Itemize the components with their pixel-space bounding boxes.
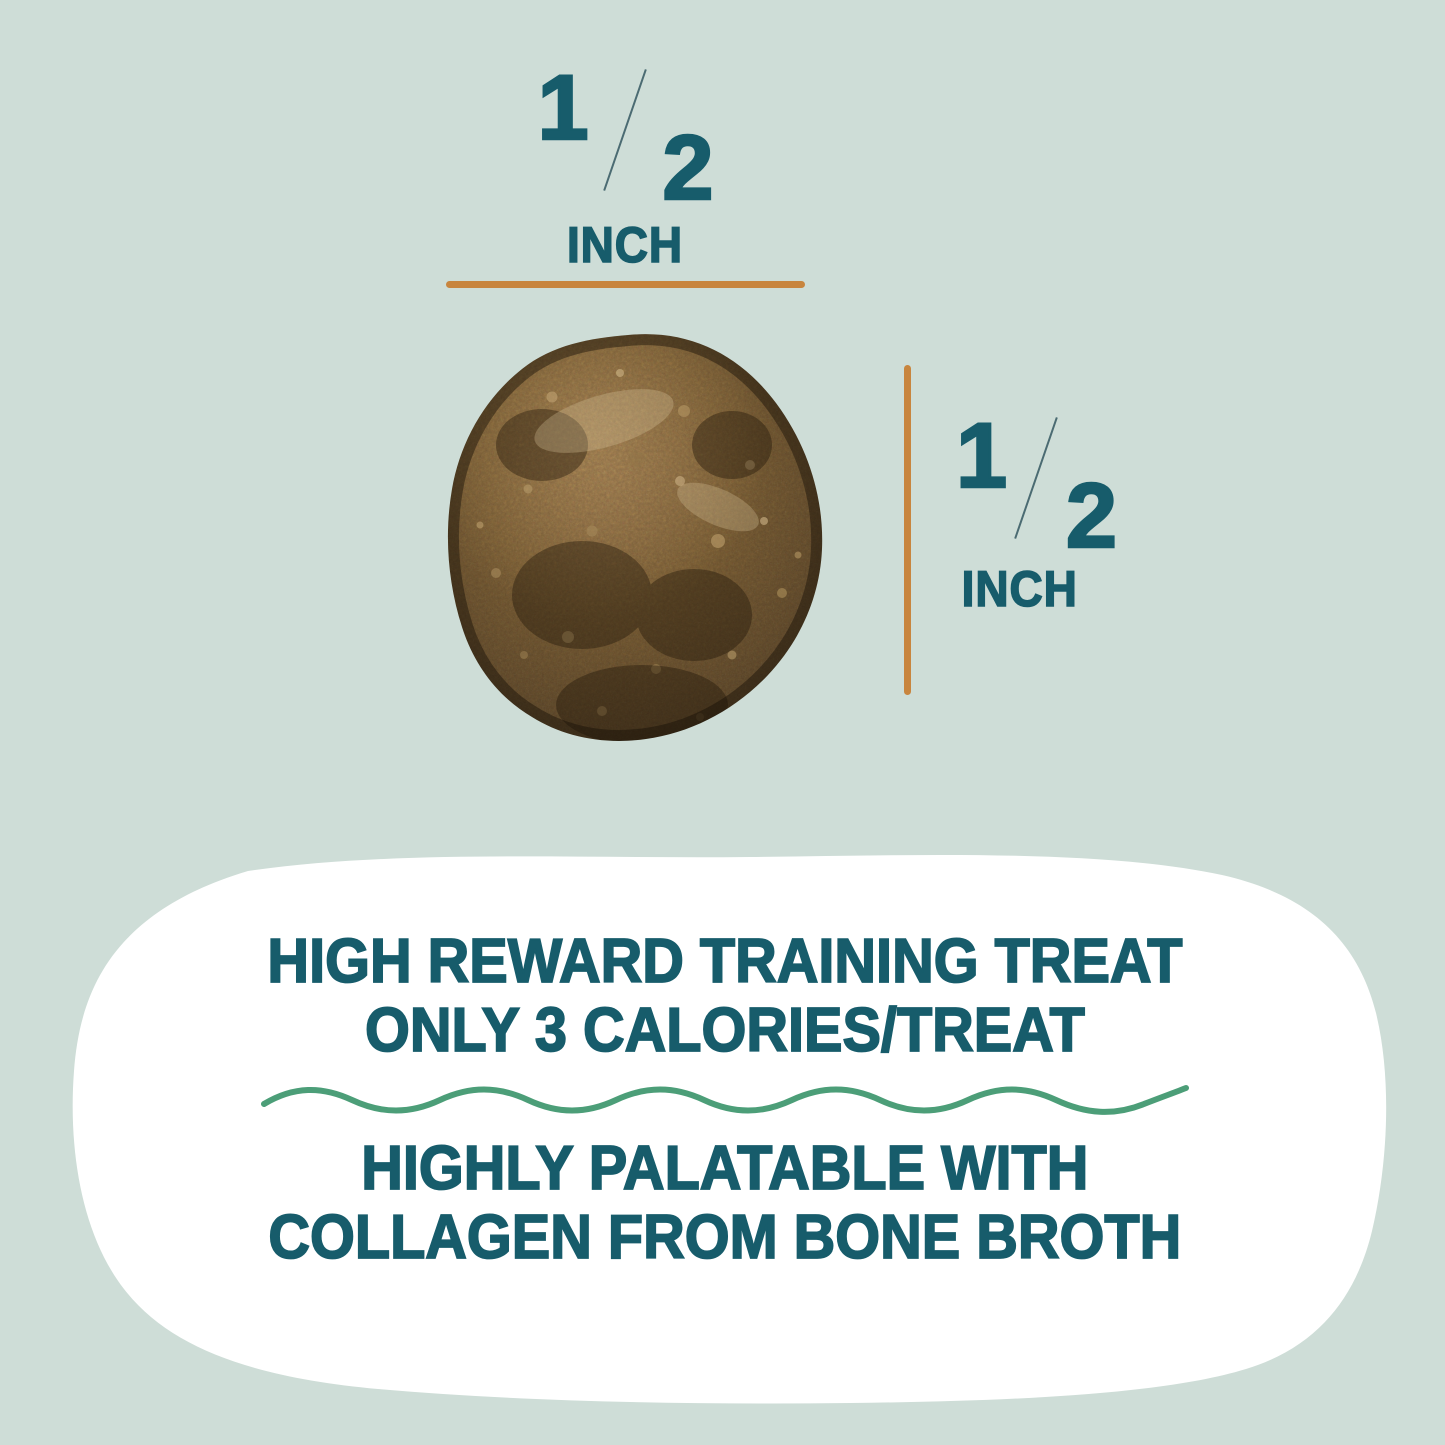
claim-line-2: ONLY 3 CALORIES/TREAT bbox=[267, 996, 1182, 1065]
fraction-slash-icon bbox=[603, 69, 647, 191]
unit-label-inch-right: INCH bbox=[958, 564, 1142, 614]
claims-content: HIGH REWARD TRAINING TREAT ONLY 3 CALORI… bbox=[60, 845, 1390, 1410]
fraction-denominator: 2 bbox=[1066, 470, 1116, 562]
width-measurement-rule bbox=[446, 281, 805, 288]
fraction-numerator: 1 bbox=[538, 62, 588, 154]
claims-card: HIGH REWARD TRAINING TREAT ONLY 3 CALORI… bbox=[60, 845, 1390, 1410]
claim-line-1: HIGH REWARD TRAINING TREAT bbox=[267, 927, 1182, 996]
claim-block-palatable: HIGHLY PALATABLE WITH COLLAGEN FROM BONE… bbox=[234, 1134, 1216, 1273]
wavy-divider-icon bbox=[260, 1084, 1190, 1118]
claim-line-4: COLLAGEN FROM BONE BROTH bbox=[269, 1203, 1182, 1272]
infographic-canvas: 1 2 INCH bbox=[0, 0, 1445, 1445]
fraction-one-half-top: 1 2 bbox=[538, 62, 713, 202]
fraction-one-half-right: 1 2 bbox=[956, 410, 1116, 550]
unit-label-inch-top: INCH bbox=[515, 220, 736, 270]
fraction-numerator: 1 bbox=[956, 410, 1006, 502]
treat-image bbox=[432, 325, 852, 760]
height-measurement-rule bbox=[904, 365, 911, 695]
fraction-slash-icon bbox=[1014, 417, 1058, 539]
claim-block-training: HIGH REWARD TRAINING TREAT ONLY 3 CALORI… bbox=[233, 927, 1217, 1066]
width-measurement-label: 1 2 INCH bbox=[505, 62, 745, 270]
claim-line-3: HIGHLY PALATABLE WITH bbox=[269, 1134, 1182, 1203]
fraction-denominator: 2 bbox=[662, 122, 712, 214]
height-measurement-label: 1 2 INCH bbox=[950, 410, 1150, 614]
